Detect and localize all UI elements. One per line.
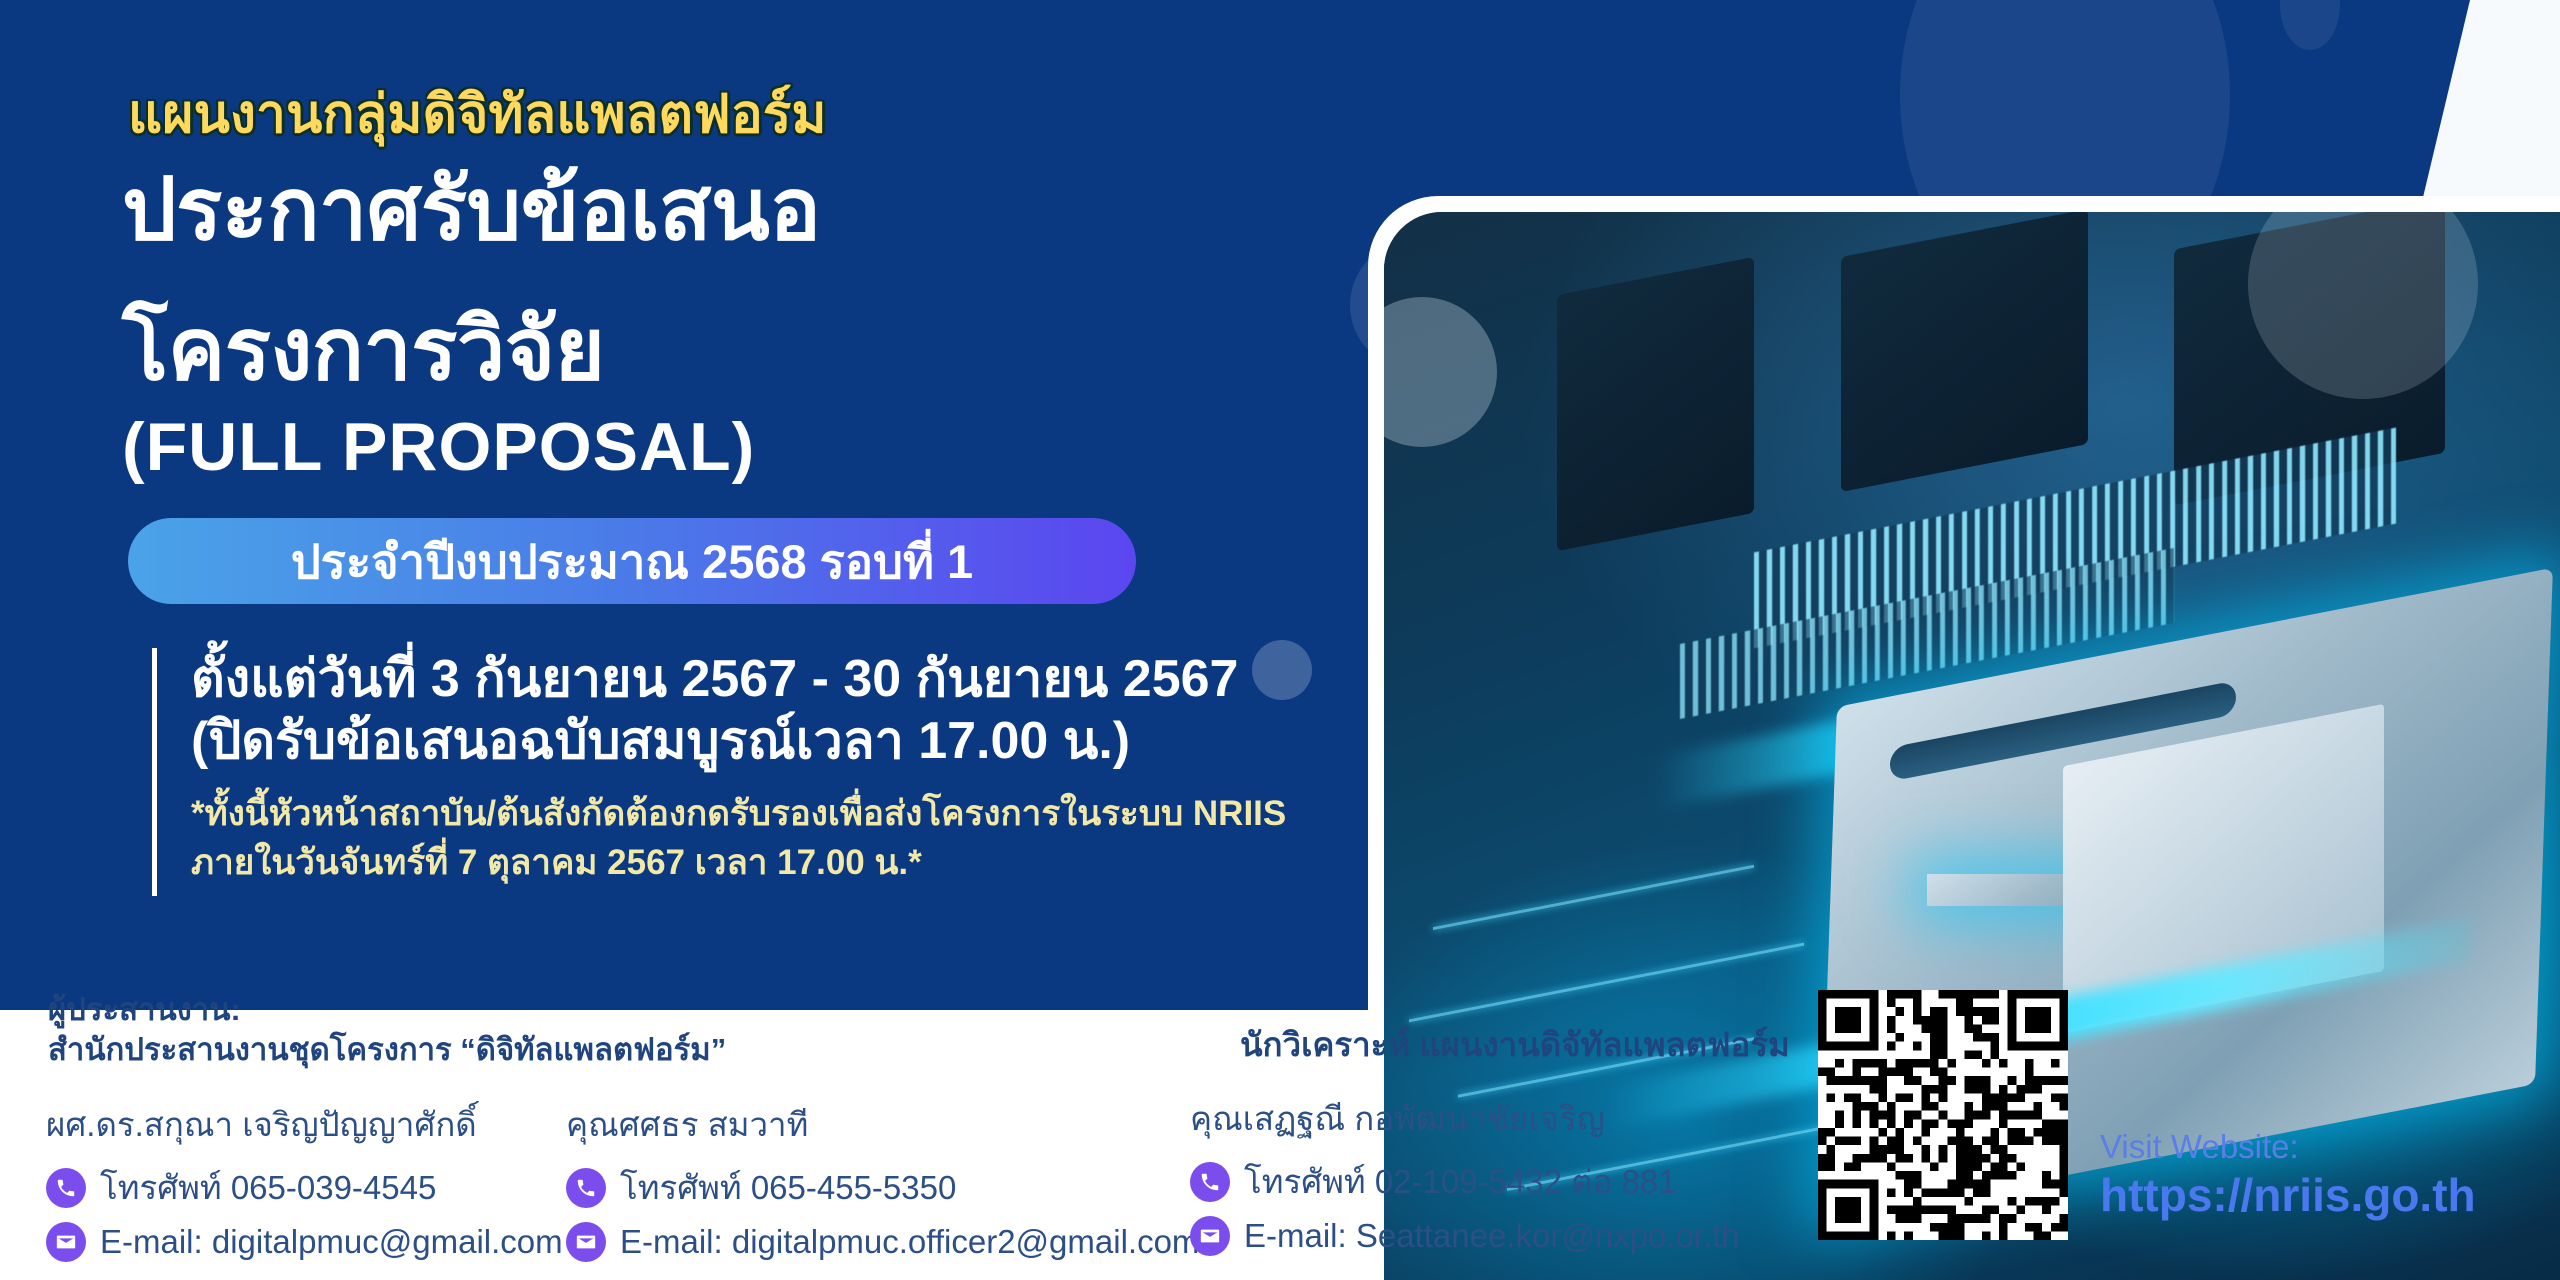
website-url[interactable]: https://nriis.go.th [2100, 1168, 2476, 1222]
email-icon [566, 1222, 606, 1262]
phone-icon [1190, 1162, 1230, 1202]
contact-phone-row[interactable]: โทรศัพท์ 065-455-5350 [566, 1161, 1199, 1214]
contact-email: E-mail: digitalpmuc.officer2@gmail.com [620, 1223, 1199, 1261]
website-label: Visit Website: [2100, 1128, 2476, 1166]
coordinator-heading-line1: ผู้ประสานงาน: [48, 990, 726, 1030]
endorsement-note-line1: *ทั้งนี้หัวหน้าสถาบัน/ต้นสังกัดต้องกดรับ… [191, 789, 1286, 839]
page-title-line1: ประกาศรับข้อเสนอ [122, 140, 820, 277]
contact-email: E-mail: digitalpmuc@gmail.com [100, 1223, 563, 1261]
contact-email-row[interactable]: E-mail: digitalpmuc@gmail.com [46, 1222, 563, 1262]
deadline-time: (ปิดรับข้อเสนอฉบับสมบูรณ์เวลา 17.00 น.) [191, 710, 1286, 772]
announcement-banner: แผนงานกลุ่มดิจิทัลแพลตฟอร์ม ประกาศรับข้อ… [0, 0, 2560, 1280]
submission-period-block: ตั้งแต่วันที่ 3 กันยายน 2567 - 30 กันยาย… [152, 648, 1286, 896]
fiscal-year-badge-label: ประจำปีงบประมาณ 2568 รอบที่ 1 [291, 524, 973, 599]
page-title-line2: โครงการวิจัย [122, 280, 605, 417]
fiscal-year-badge: ประจำปีงบประมาณ 2568 รอบที่ 1 [128, 518, 1136, 604]
contact-name: ผศ.ดร.สกุณา เจริญปัญญาศักดิ์ [46, 1098, 563, 1151]
contact-phone-row[interactable]: โทรศัพท์ 02-109-5432 ต่อ 881 [1190, 1155, 1740, 1208]
qr-code-image [1818, 990, 2068, 1240]
endorsement-note-line2: ภายในวันจันทร์ที่ 7 ตุลาคม 2567 เวลา 17.… [191, 838, 1286, 888]
contact-phone: โทรศัพท์ 065-455-5350 [620, 1161, 956, 1214]
qr-code[interactable] [1818, 990, 2068, 1240]
page-title-line3: (FULL PROPOSAL) [122, 408, 755, 486]
contact-name: คุณเสฏฐณี กอพัฒนาชัยเจริญ [1190, 1092, 1740, 1145]
email-icon [1190, 1216, 1230, 1256]
coordinator-heading: ผู้ประสานงาน: สำนักประสานงานชุดโครงการ “… [48, 990, 726, 1071]
contact-card-2: คุณศศธร สมวาที โทรศัพท์ 065-455-5350 E-m… [566, 1098, 1199, 1270]
contact-phone: โทรศัพท์ 065-039-4545 [100, 1161, 436, 1214]
contact-email: E-mail: Seattanee.kor@nxpo.or.th [1244, 1217, 1740, 1255]
contact-email-row[interactable]: E-mail: Seattanee.kor@nxpo.or.th [1190, 1216, 1740, 1256]
phone-icon [566, 1168, 606, 1208]
footer: ผู้ประสานงาน: สำนักประสานงานชุดโครงการ “… [0, 1000, 2560, 1280]
pcb-component [1841, 212, 2088, 492]
contact-email-row[interactable]: E-mail: digitalpmuc.officer2@gmail.com [566, 1222, 1199, 1262]
date-range: ตั้งแต่วันที่ 3 กันยายน 2567 - 30 กันยาย… [191, 648, 1286, 710]
contact-name: คุณศศธร สมวาที [566, 1098, 1199, 1151]
coordinator-heading-line2: สำนักประสานงานชุดโครงการ “ดิจิทัลแพลตฟอร… [48, 1030, 726, 1070]
contact-card-1: ผศ.ดร.สกุณา เจริญปัญญาศักดิ์ โทรศัพท์ 06… [46, 1098, 563, 1270]
pcb-component [1557, 257, 1754, 552]
email-icon [46, 1222, 86, 1262]
analyst-heading: นักวิเคราะห์ แผนงานดิจัทัลแพลตฟอร์ม [1240, 1018, 1790, 1071]
phone-icon [46, 1168, 86, 1208]
contact-phone: โทรศัพท์ 02-109-5432 ต่อ 881 [1244, 1155, 1677, 1208]
contact-phone-row[interactable]: โทรศัพท์ 065-039-4545 [46, 1161, 563, 1214]
website-block[interactable]: Visit Website: https://nriis.go.th [2100, 1128, 2476, 1222]
contact-card-3: คุณเสฏฐณี กอพัฒนาชัยเจริญ โทรศัพท์ 02-10… [1190, 1092, 1740, 1264]
